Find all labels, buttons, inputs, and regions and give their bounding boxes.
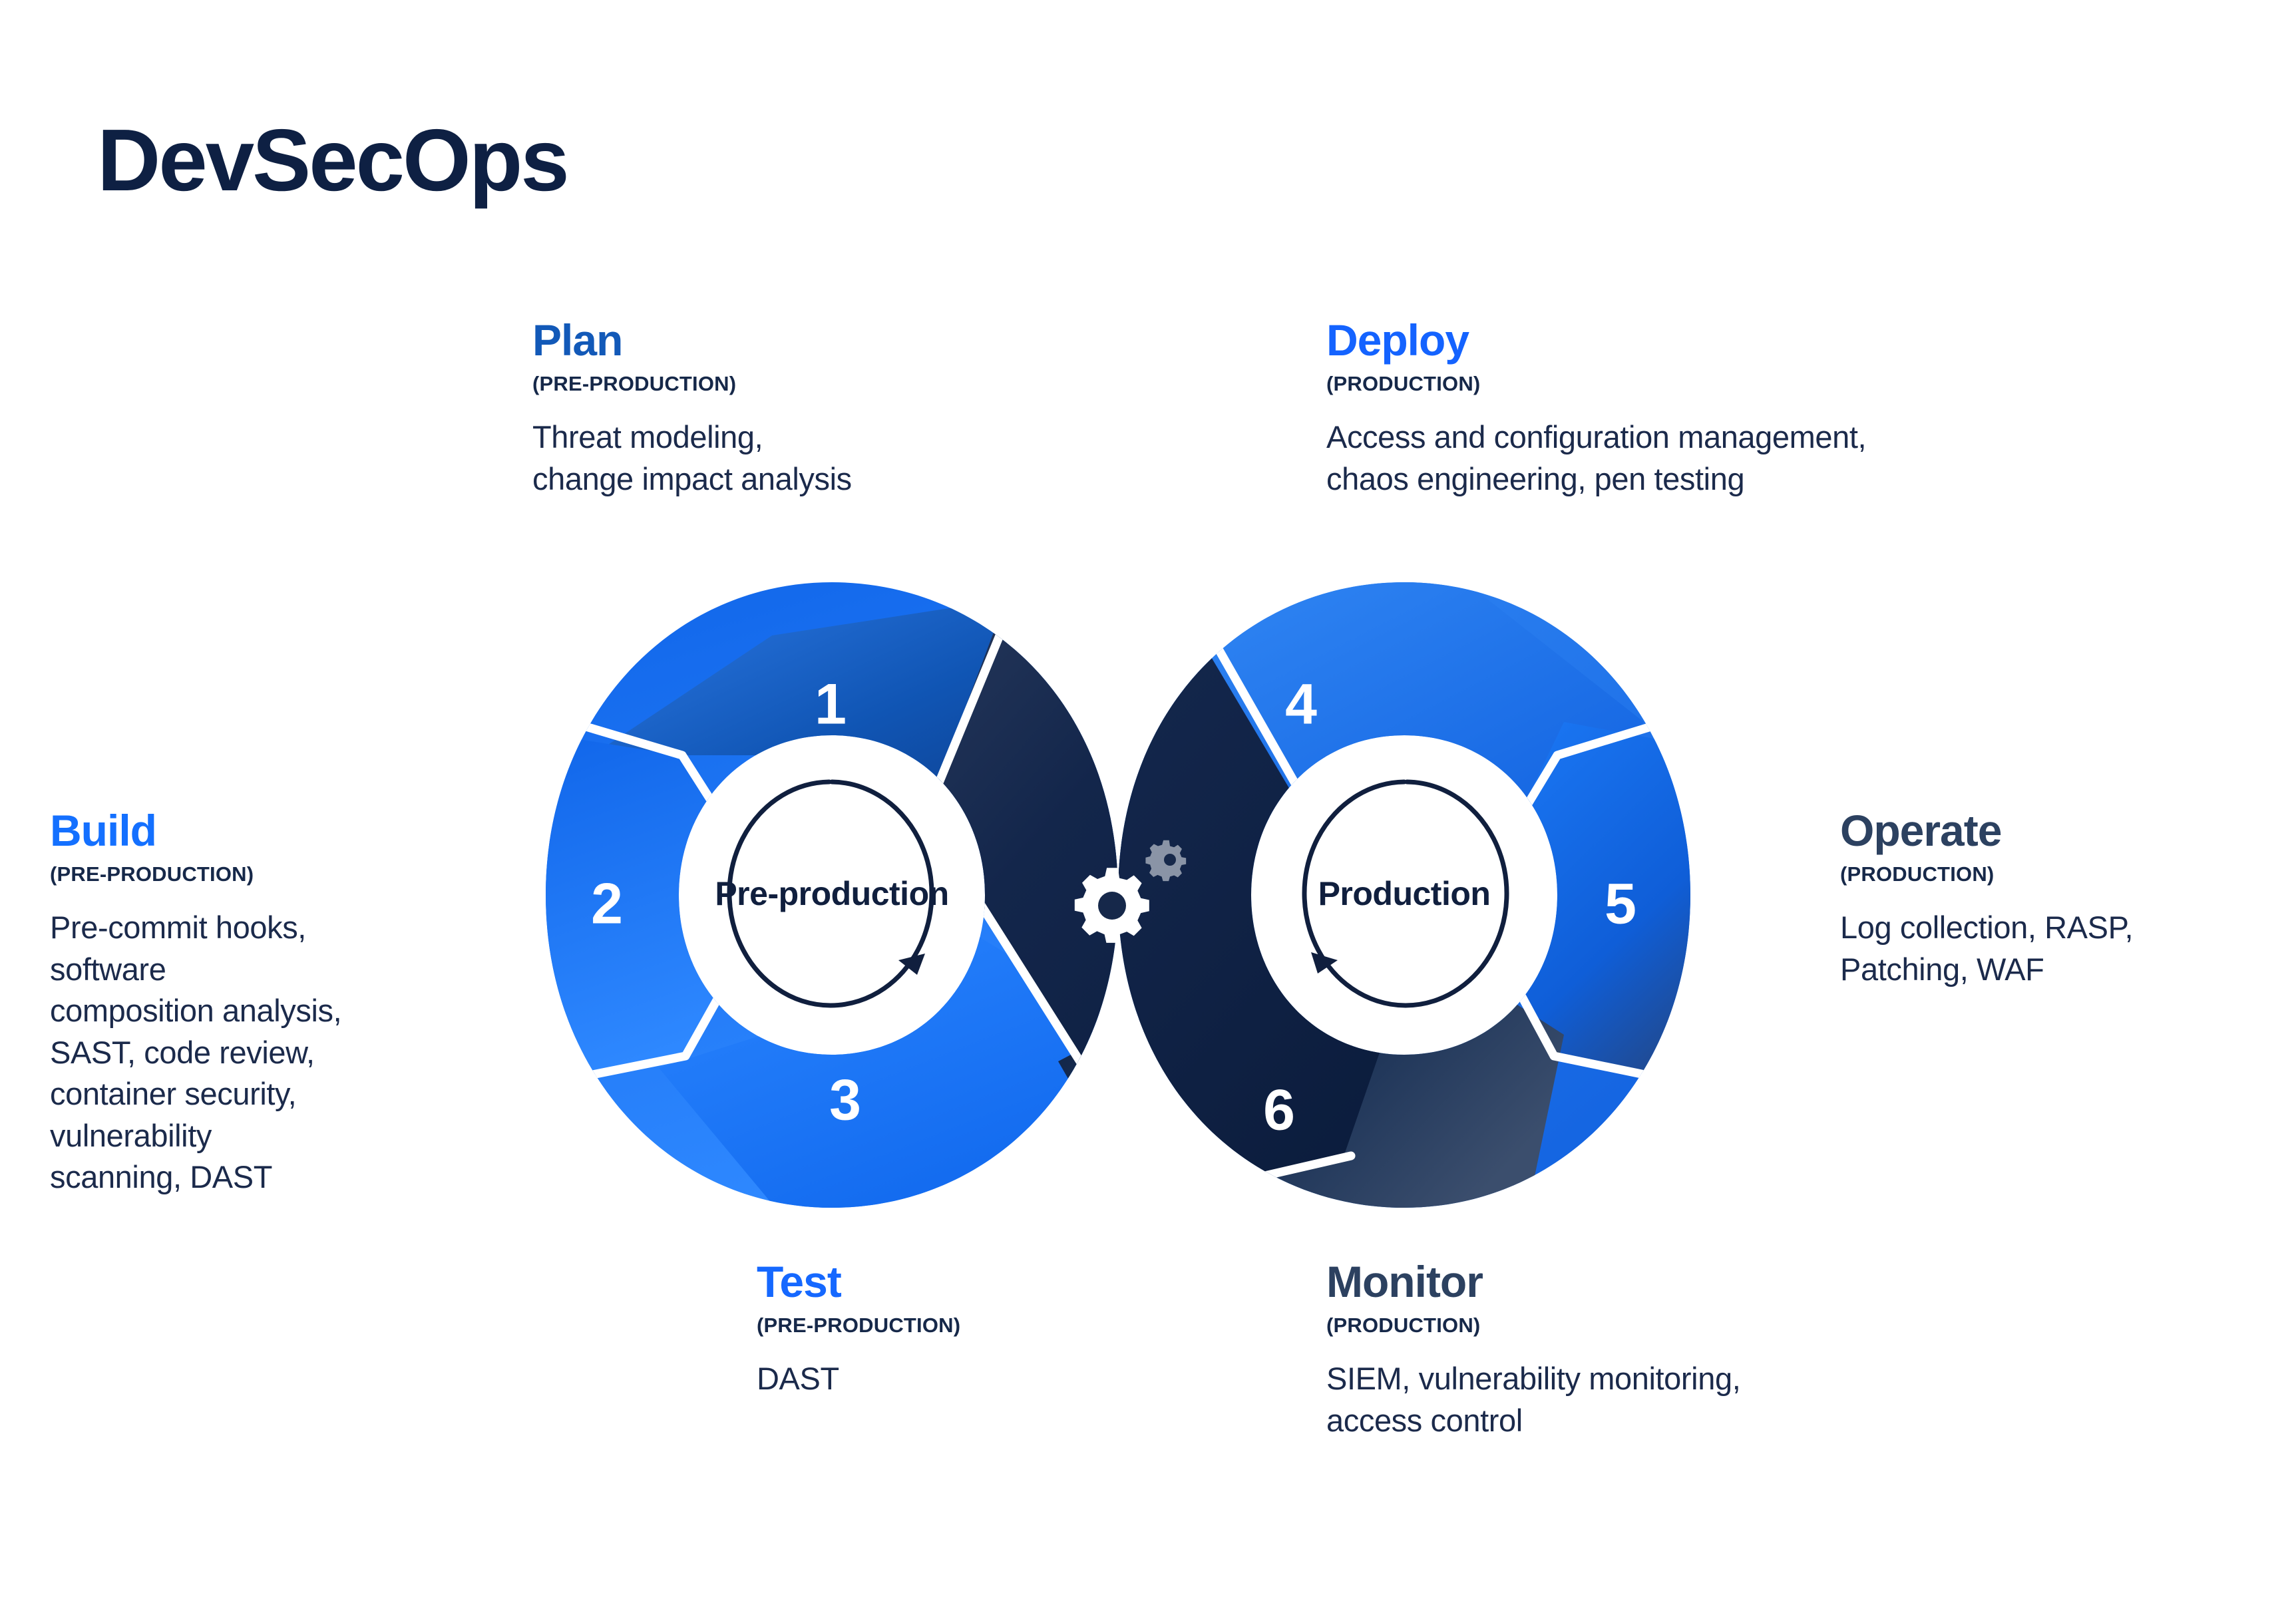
stage-test-desc: DAST — [757, 1358, 1129, 1400]
infinity-loop-diagram: Pre-production Production 1 2 3 4 5 6 — [459, 556, 1777, 1234]
segment-number-2: 2 — [591, 872, 623, 936]
stage-test-title: Test — [757, 1260, 1129, 1304]
stage-monitor-env: (PRODUCTION) — [1326, 1315, 1992, 1335]
stage-plan-title: Plan — [532, 318, 1065, 363]
stage-operate-env: (PRODUCTION) — [1840, 864, 2279, 884]
stage-plan-env: (PRE-PRODUCTION) — [532, 373, 1065, 394]
segment-number-5: 5 — [1605, 872, 1636, 936]
pre-production-label: Pre-production — [715, 875, 948, 912]
segment-number-1: 1 — [815, 673, 847, 737]
stage-operate: Operate (PRODUCTION) Log collection, RAS… — [1840, 808, 2279, 990]
stage-operate-title: Operate — [1840, 808, 2279, 853]
stage-test-env: (PRE-PRODUCTION) — [757, 1315, 1129, 1335]
stage-deploy-env: (PRODUCTION) — [1326, 373, 2192, 394]
segment-number-3: 3 — [829, 1069, 861, 1133]
stage-build: Build (PRE-PRODUCTION) Pre-commit hooks,… — [50, 808, 516, 1198]
stage-operate-desc: Log collection, RASP, Patching, WAF — [1840, 907, 2279, 990]
stage-deploy: Deploy (PRODUCTION) Access and configura… — [1326, 318, 2192, 500]
stage-plan: Plan (PRE-PRODUCTION) Threat modeling, c… — [532, 318, 1065, 500]
devsecops-infographic: DevSecOps — [0, 0, 2296, 1601]
stage-build-desc: Pre-commit hooks, software composition a… — [50, 907, 516, 1198]
segment-number-6: 6 — [1263, 1079, 1295, 1143]
production-label: Production — [1318, 875, 1491, 912]
stage-build-env: (PRE-PRODUCTION) — [50, 864, 516, 884]
stage-deploy-desc: Access and configuration management, cha… — [1326, 417, 2192, 500]
stage-deploy-title: Deploy — [1326, 318, 2192, 363]
stage-test: Test (PRE-PRODUCTION) DAST — [757, 1260, 1129, 1400]
stage-build-title: Build — [50, 808, 516, 853]
stage-monitor: Monitor (PRODUCTION) SIEM, vulnerability… — [1326, 1260, 1992, 1441]
page-title: DevSecOps — [97, 116, 568, 204]
stage-monitor-desc: SIEM, vulnerability monitoring, access c… — [1326, 1358, 1992, 1441]
segment-number-4: 4 — [1285, 673, 1317, 737]
stage-plan-desc: Threat modeling, change impact analysis — [532, 417, 1065, 500]
stage-monitor-title: Monitor — [1326, 1260, 1992, 1304]
